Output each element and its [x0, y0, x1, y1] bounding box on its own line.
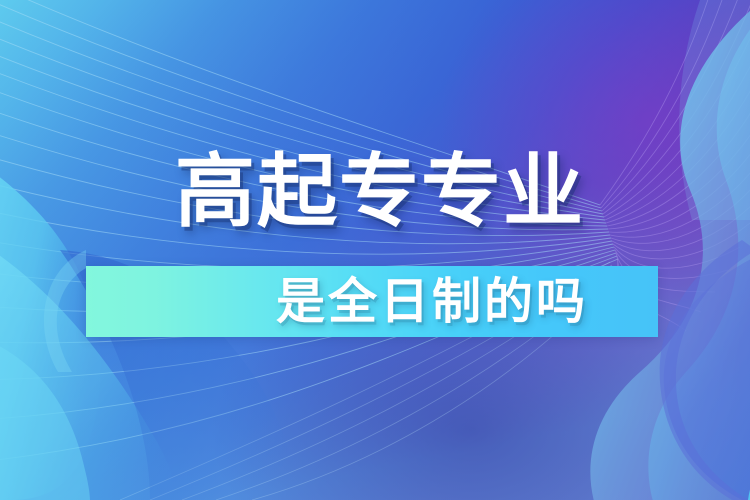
- promo-banner: 高起专专业 是全日制的吗: [0, 0, 750, 500]
- subtitle-band: [86, 266, 658, 337]
- background-artwork: [0, 0, 750, 500]
